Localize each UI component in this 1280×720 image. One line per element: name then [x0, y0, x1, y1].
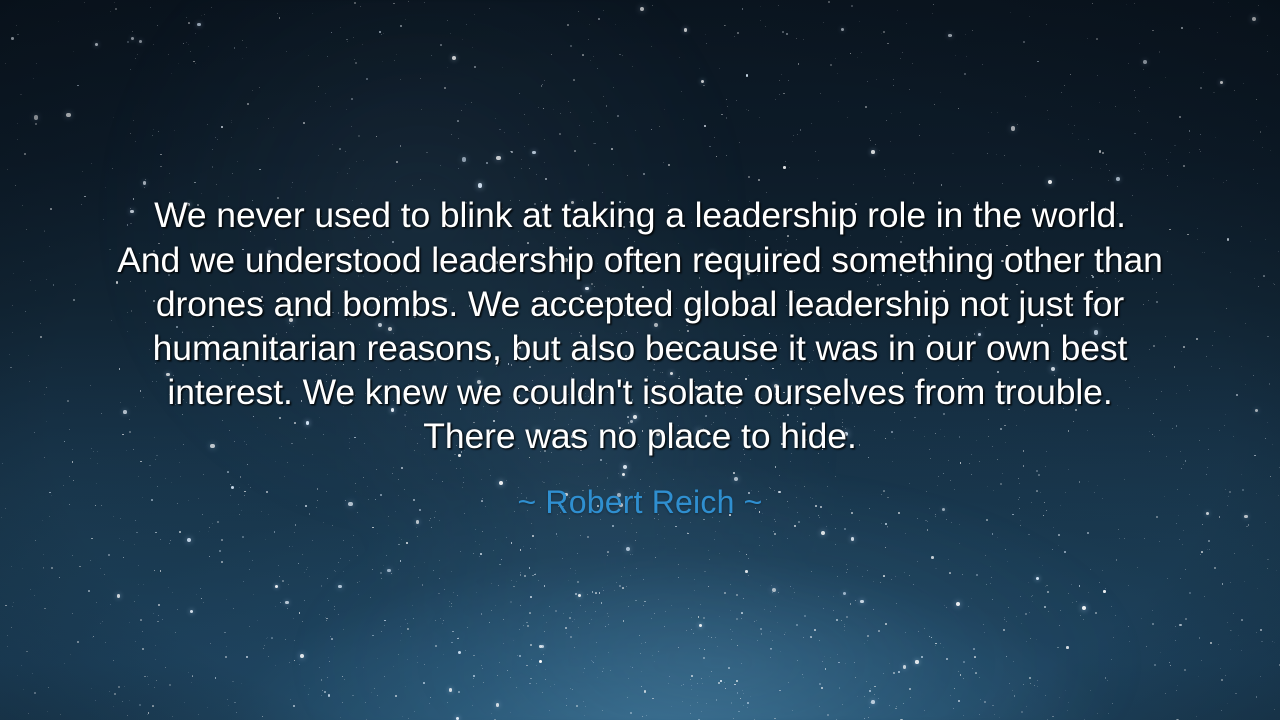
- quote-content-group: We never used to blink at taking a leade…: [0, 0, 1280, 720]
- quote-attribution: ~ Robert Reich ~: [517, 483, 762, 521]
- quote-text: We never used to blink at taking a leade…: [90, 193, 1190, 458]
- quote-image-canvas: We never used to blink at taking a leade…: [0, 0, 1280, 720]
